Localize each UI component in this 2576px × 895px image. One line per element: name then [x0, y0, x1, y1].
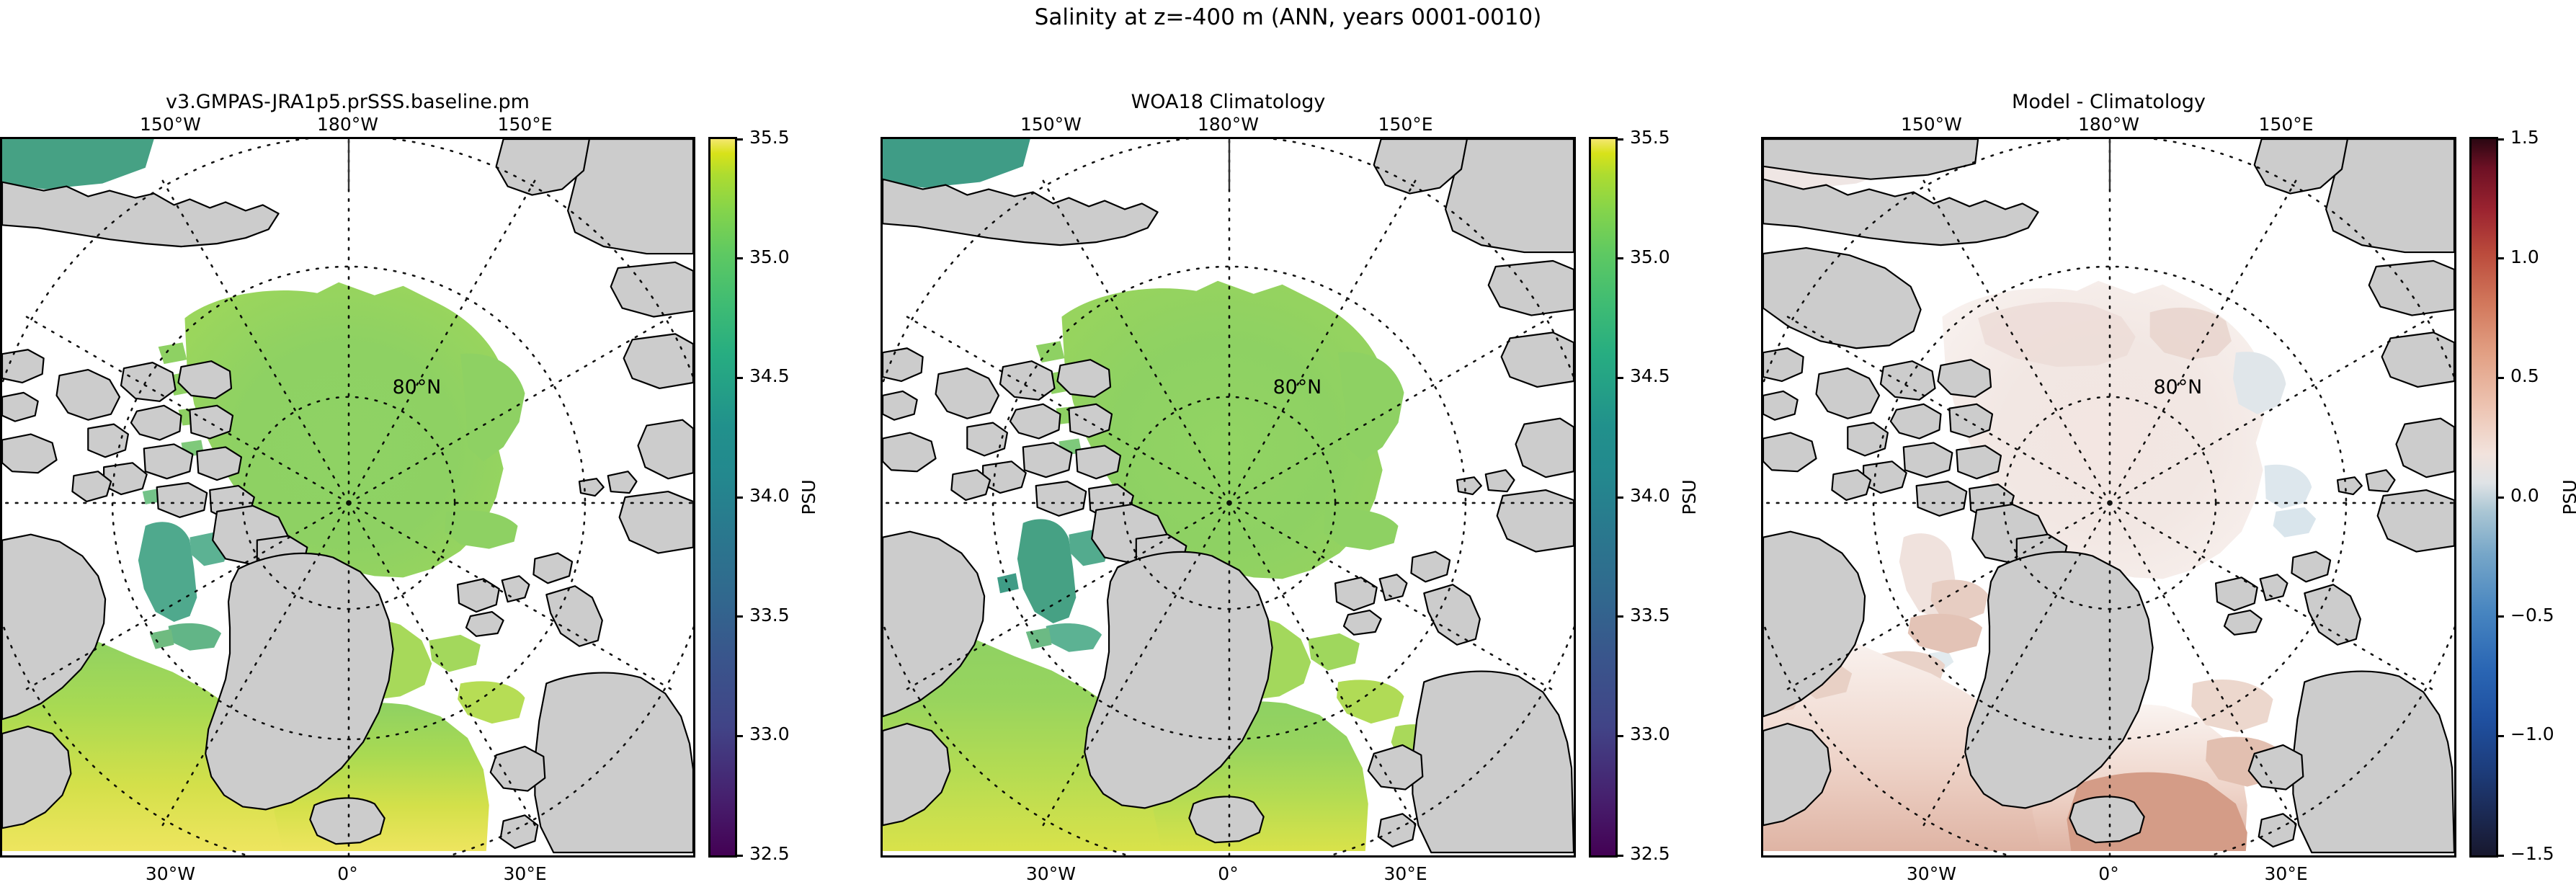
- lon-label-180w: 180°W: [1198, 114, 1259, 135]
- lon-label-150w: 150°W: [1020, 114, 1082, 135]
- colorbar-label-psu: PSU: [2559, 479, 2576, 515]
- figure-title: Salinity at z=-400 m (ANN, years 0001-00…: [0, 4, 2576, 30]
- panel-climatology: WOA18 Climatology 150°W 180°W 150°E: [881, 137, 1576, 858]
- colorbar-salinity-model[interactable]: 35.5 35.0 34.5 34.0 33.5 33.0 32.5 PSU: [708, 137, 737, 858]
- colorbar-ticks-climatology: 35.5 35.0 34.5 34.0 33.5 33.0 32.5: [1615, 139, 1731, 855]
- lon-label-150e: 150°E: [1378, 114, 1433, 135]
- panel-title-model: v3.GMPAS-JRA1p5.prSSS.baseline.pm: [0, 91, 695, 113]
- panel-title-difference: Model - Climatology: [1761, 91, 2456, 113]
- lon-label-30w: 30°W: [146, 863, 195, 884]
- lon-labels-bottom-model: 30°W 0° 30°E: [0, 863, 695, 886]
- lon-label-0: 0°: [2098, 863, 2118, 884]
- lon-labels-top-difference: 150°W 180°W 150°E: [1761, 114, 2456, 135]
- panel-difference: Model - Climatology 150°W 180°W 150°E: [1761, 137, 2456, 858]
- lon-label-150e: 150°E: [498, 114, 553, 135]
- lon-label-150w: 150°W: [1901, 114, 1962, 135]
- colorbar-salinity-climatology[interactable]: 35.5 35.0 34.5 34.0 33.5 33.0 32.5 PSU: [1589, 137, 1618, 858]
- lon-labels-top-model: 150°W 180°W 150°E: [0, 114, 695, 135]
- panel-model: v3.GMPAS-JRA1p5.prSSS.baseline.pm 150°W …: [0, 137, 695, 858]
- map-canvas-climatology: 80°N: [881, 137, 1576, 858]
- graticule-label-80n: 80°N: [393, 376, 442, 398]
- figure-root: Salinity at z=-400 m (ANN, years 0001-00…: [0, 0, 2576, 895]
- lon-label-0: 0°: [1218, 863, 1238, 884]
- lon-label-30w: 30°W: [1907, 863, 1956, 884]
- lon-label-0: 0°: [337, 863, 357, 884]
- map-canvas-model: 80°N: [0, 137, 695, 858]
- lon-label-30e: 30°E: [2265, 863, 2308, 884]
- map-canvas-difference: 80°N: [1761, 137, 2456, 858]
- lon-label-30e: 30°E: [1384, 863, 1427, 884]
- lon-label-150e: 150°E: [2259, 114, 2314, 135]
- panel-title-climatology: WOA18 Climatology: [881, 91, 1576, 113]
- lon-labels-bottom-climatology: 30°W 0° 30°E: [881, 863, 1576, 886]
- lon-labels-bottom-difference: 30°W 0° 30°E: [1761, 863, 2456, 886]
- lon-labels-top-climatology: 150°W 180°W 150°E: [881, 114, 1576, 135]
- lon-label-180w: 180°W: [317, 114, 378, 135]
- colorbar-ticks-model: 35.5 35.0 34.5 34.0 33.5 33.0 32.5: [735, 139, 850, 855]
- graticule-label-80n: 80°N: [1273, 376, 1322, 398]
- lon-label-30e: 30°E: [504, 863, 547, 884]
- graticule-label-80n: 80°N: [2154, 376, 2203, 398]
- colorbar-label-psu: PSU: [798, 479, 819, 515]
- lon-label-30w: 30°W: [1026, 863, 1076, 884]
- colorbar-difference[interactable]: 1.5 1.0 0.5 0.0 −0.5 −1.0 −1.5 PSU: [2469, 137, 2498, 858]
- lon-label-150w: 150°W: [140, 114, 201, 135]
- colorbar-label-psu: PSU: [1679, 479, 1700, 515]
- lon-label-180w: 180°W: [2078, 114, 2139, 135]
